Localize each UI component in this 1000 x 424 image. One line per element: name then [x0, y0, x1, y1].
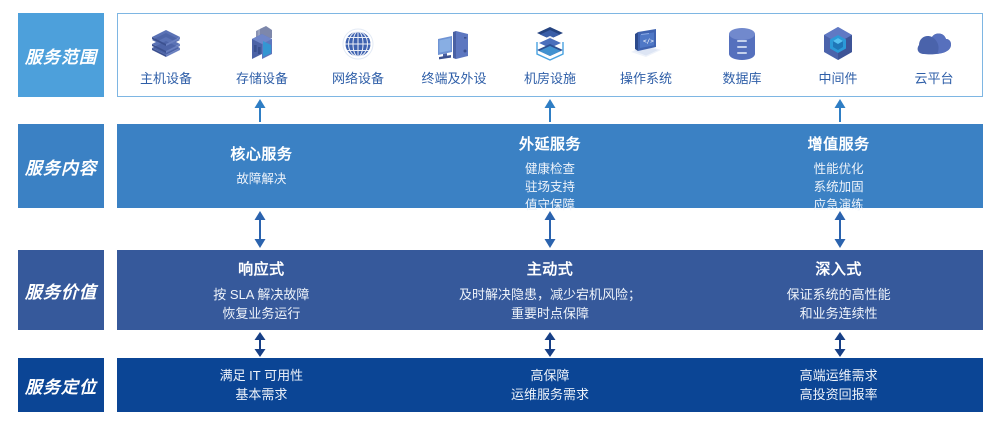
- column-line: 及时解决隐患，减少宕机风险；: [459, 286, 641, 305]
- column-line: 驻场支持: [525, 178, 575, 196]
- column-line: 运维服务需求: [511, 385, 589, 405]
- column-heading: 增值服务: [808, 133, 870, 154]
- connector-scope-to-content-right: [833, 99, 847, 122]
- scope-item-label: 数据库: [722, 68, 761, 87]
- content-column-extended-service[interactable]: 外延服务 健康检查 驻场支持 值守保障: [406, 124, 695, 208]
- scope-item-label: 机房设施: [524, 68, 576, 87]
- column-line: 和业务连续性: [800, 305, 878, 324]
- scope-item-network-equipment[interactable]: 网络设备: [310, 24, 406, 87]
- icon-grid: 主机设备: [118, 14, 982, 96]
- scope-item-storage-equipment[interactable]: 存储设备: [214, 24, 310, 87]
- column-line: 基本需求: [235, 385, 287, 405]
- server-stack-icon: [147, 24, 185, 64]
- scope-item-database[interactable]: 数据库: [694, 24, 790, 87]
- svg-text:</>: </>: [643, 38, 654, 45]
- row-label-text: 服务范围: [25, 43, 97, 68]
- connector-content-to-value-left: [253, 211, 267, 248]
- value-column-indepth[interactable]: 深入式 保证系统的高性能 和业务连续性: [694, 250, 983, 330]
- column-heading: 外延服务: [519, 133, 581, 154]
- column-line: 高保障: [531, 366, 570, 386]
- column-heading: 响应式: [238, 258, 285, 279]
- database-cylinder-icon: [724, 24, 760, 64]
- cube-middleware-icon: [819, 24, 857, 64]
- panel-service-value: 响应式 按 SLA 解决故障 恢复业务运行 主动式 及时解决隐患，减少宕机风险；…: [117, 250, 983, 330]
- connector-scope-to-content-center: [543, 99, 557, 122]
- scope-item-label: 中间件: [818, 68, 857, 87]
- connector-scope-to-content-left: [253, 99, 267, 122]
- data-center-rack-icon: [529, 24, 571, 64]
- storage-array-icon: [243, 24, 281, 64]
- connector-content-to-value-right: [833, 211, 847, 248]
- row-label-service-positioning: 服务定位: [18, 358, 104, 412]
- column-line: 故障解决: [236, 170, 286, 188]
- scope-item-operating-system[interactable]: </> 操作系统: [598, 24, 694, 87]
- scope-item-label: 终端及外设: [421, 68, 486, 87]
- column-line: 健康检查: [525, 160, 575, 178]
- content-columns: 核心服务 故障解决 外延服务 健康检查 驻场支持 值守保障 增值服务 性能优化 …: [117, 124, 983, 208]
- scope-item-terminal-peripherals[interactable]: 终端及外设: [406, 24, 502, 87]
- positioning-column-high-assurance[interactable]: 高保障 运维服务需求: [406, 358, 695, 412]
- column-line: 重要时点保障: [511, 305, 589, 324]
- positioning-column-high-end[interactable]: 高端运维需求 高投资回报率: [694, 358, 983, 412]
- code-window-icon: </>: [625, 24, 667, 64]
- scope-item-label: 操作系统: [620, 68, 672, 87]
- panel-service-positioning: 满足 IT 可用性 基本需求 高保障 运维服务需求 高端运维需求 高投资回报率: [117, 358, 983, 412]
- row-label-service-scope: 服务范围: [18, 13, 104, 97]
- row-label-service-content: 服务内容: [18, 124, 104, 208]
- positioning-column-basic[interactable]: 满足 IT 可用性 基本需求: [117, 358, 406, 412]
- column-line: 高投资回报率: [800, 385, 878, 405]
- positioning-columns: 满足 IT 可用性 基本需求 高保障 运维服务需求 高端运维需求 高投资回报率: [117, 358, 983, 412]
- globe-network-icon: [339, 24, 377, 64]
- connector-content-to-value-center: [543, 211, 557, 248]
- column-line: 恢复业务运行: [222, 305, 300, 324]
- column-line: 高端运维需求: [800, 366, 878, 386]
- connector-value-to-position-left: [253, 332, 267, 357]
- column-line: 满足 IT 可用性: [220, 366, 304, 386]
- scope-item-label: 主机设备: [140, 68, 192, 87]
- connector-value-to-position-center: [543, 332, 557, 357]
- panel-service-scope: 主机设备: [117, 13, 983, 97]
- column-line: 保证系统的高性能: [787, 286, 891, 305]
- column-heading: 主动式: [527, 258, 574, 279]
- column-line: 系统加固: [814, 178, 864, 196]
- scope-item-label: 存储设备: [236, 68, 288, 87]
- value-column-responsive[interactable]: 响应式 按 SLA 解决故障 恢复业务运行: [117, 250, 406, 330]
- value-column-proactive[interactable]: 主动式 及时解决隐患，减少宕机风险； 重要时点保障: [406, 250, 695, 330]
- column-heading: 深入式: [815, 258, 862, 279]
- content-column-value-added-service[interactable]: 增值服务 性能优化 系统加固 应急演练: [694, 124, 983, 208]
- scope-item-cloud-platform[interactable]: 云平台: [886, 24, 982, 87]
- scope-item-middleware[interactable]: 中间件: [790, 24, 886, 87]
- row-label-text: 服务价值: [25, 278, 97, 303]
- connector-value-to-position-right: [833, 332, 847, 357]
- cloud-icon: [913, 24, 955, 64]
- service-framework-diagram: 服务范围: [0, 0, 1000, 424]
- desktop-pc-icon: [434, 24, 474, 64]
- column-line: 性能优化: [814, 160, 864, 178]
- panel-service-content: 核心服务 故障解决 外延服务 健康检查 驻场支持 值守保障 增值服务 性能优化 …: [117, 124, 983, 208]
- column-heading: 核心服务: [230, 143, 292, 164]
- content-column-core-service[interactable]: 核心服务 故障解决: [117, 124, 406, 208]
- value-columns: 响应式 按 SLA 解决故障 恢复业务运行 主动式 及时解决隐患，减少宕机风险；…: [117, 250, 983, 330]
- scope-item-label: 网络设备: [332, 68, 384, 87]
- row-label-text: 服务定位: [25, 373, 97, 398]
- column-line: 按 SLA 解决故障: [213, 286, 309, 305]
- scope-item-data-center-facility[interactable]: 机房设施: [502, 24, 598, 87]
- row-label-service-value: 服务价值: [18, 250, 104, 330]
- scope-item-label: 云平台: [914, 68, 953, 87]
- scope-item-host-equipment[interactable]: 主机设备: [118, 24, 214, 87]
- row-label-text: 服务内容: [25, 154, 97, 179]
